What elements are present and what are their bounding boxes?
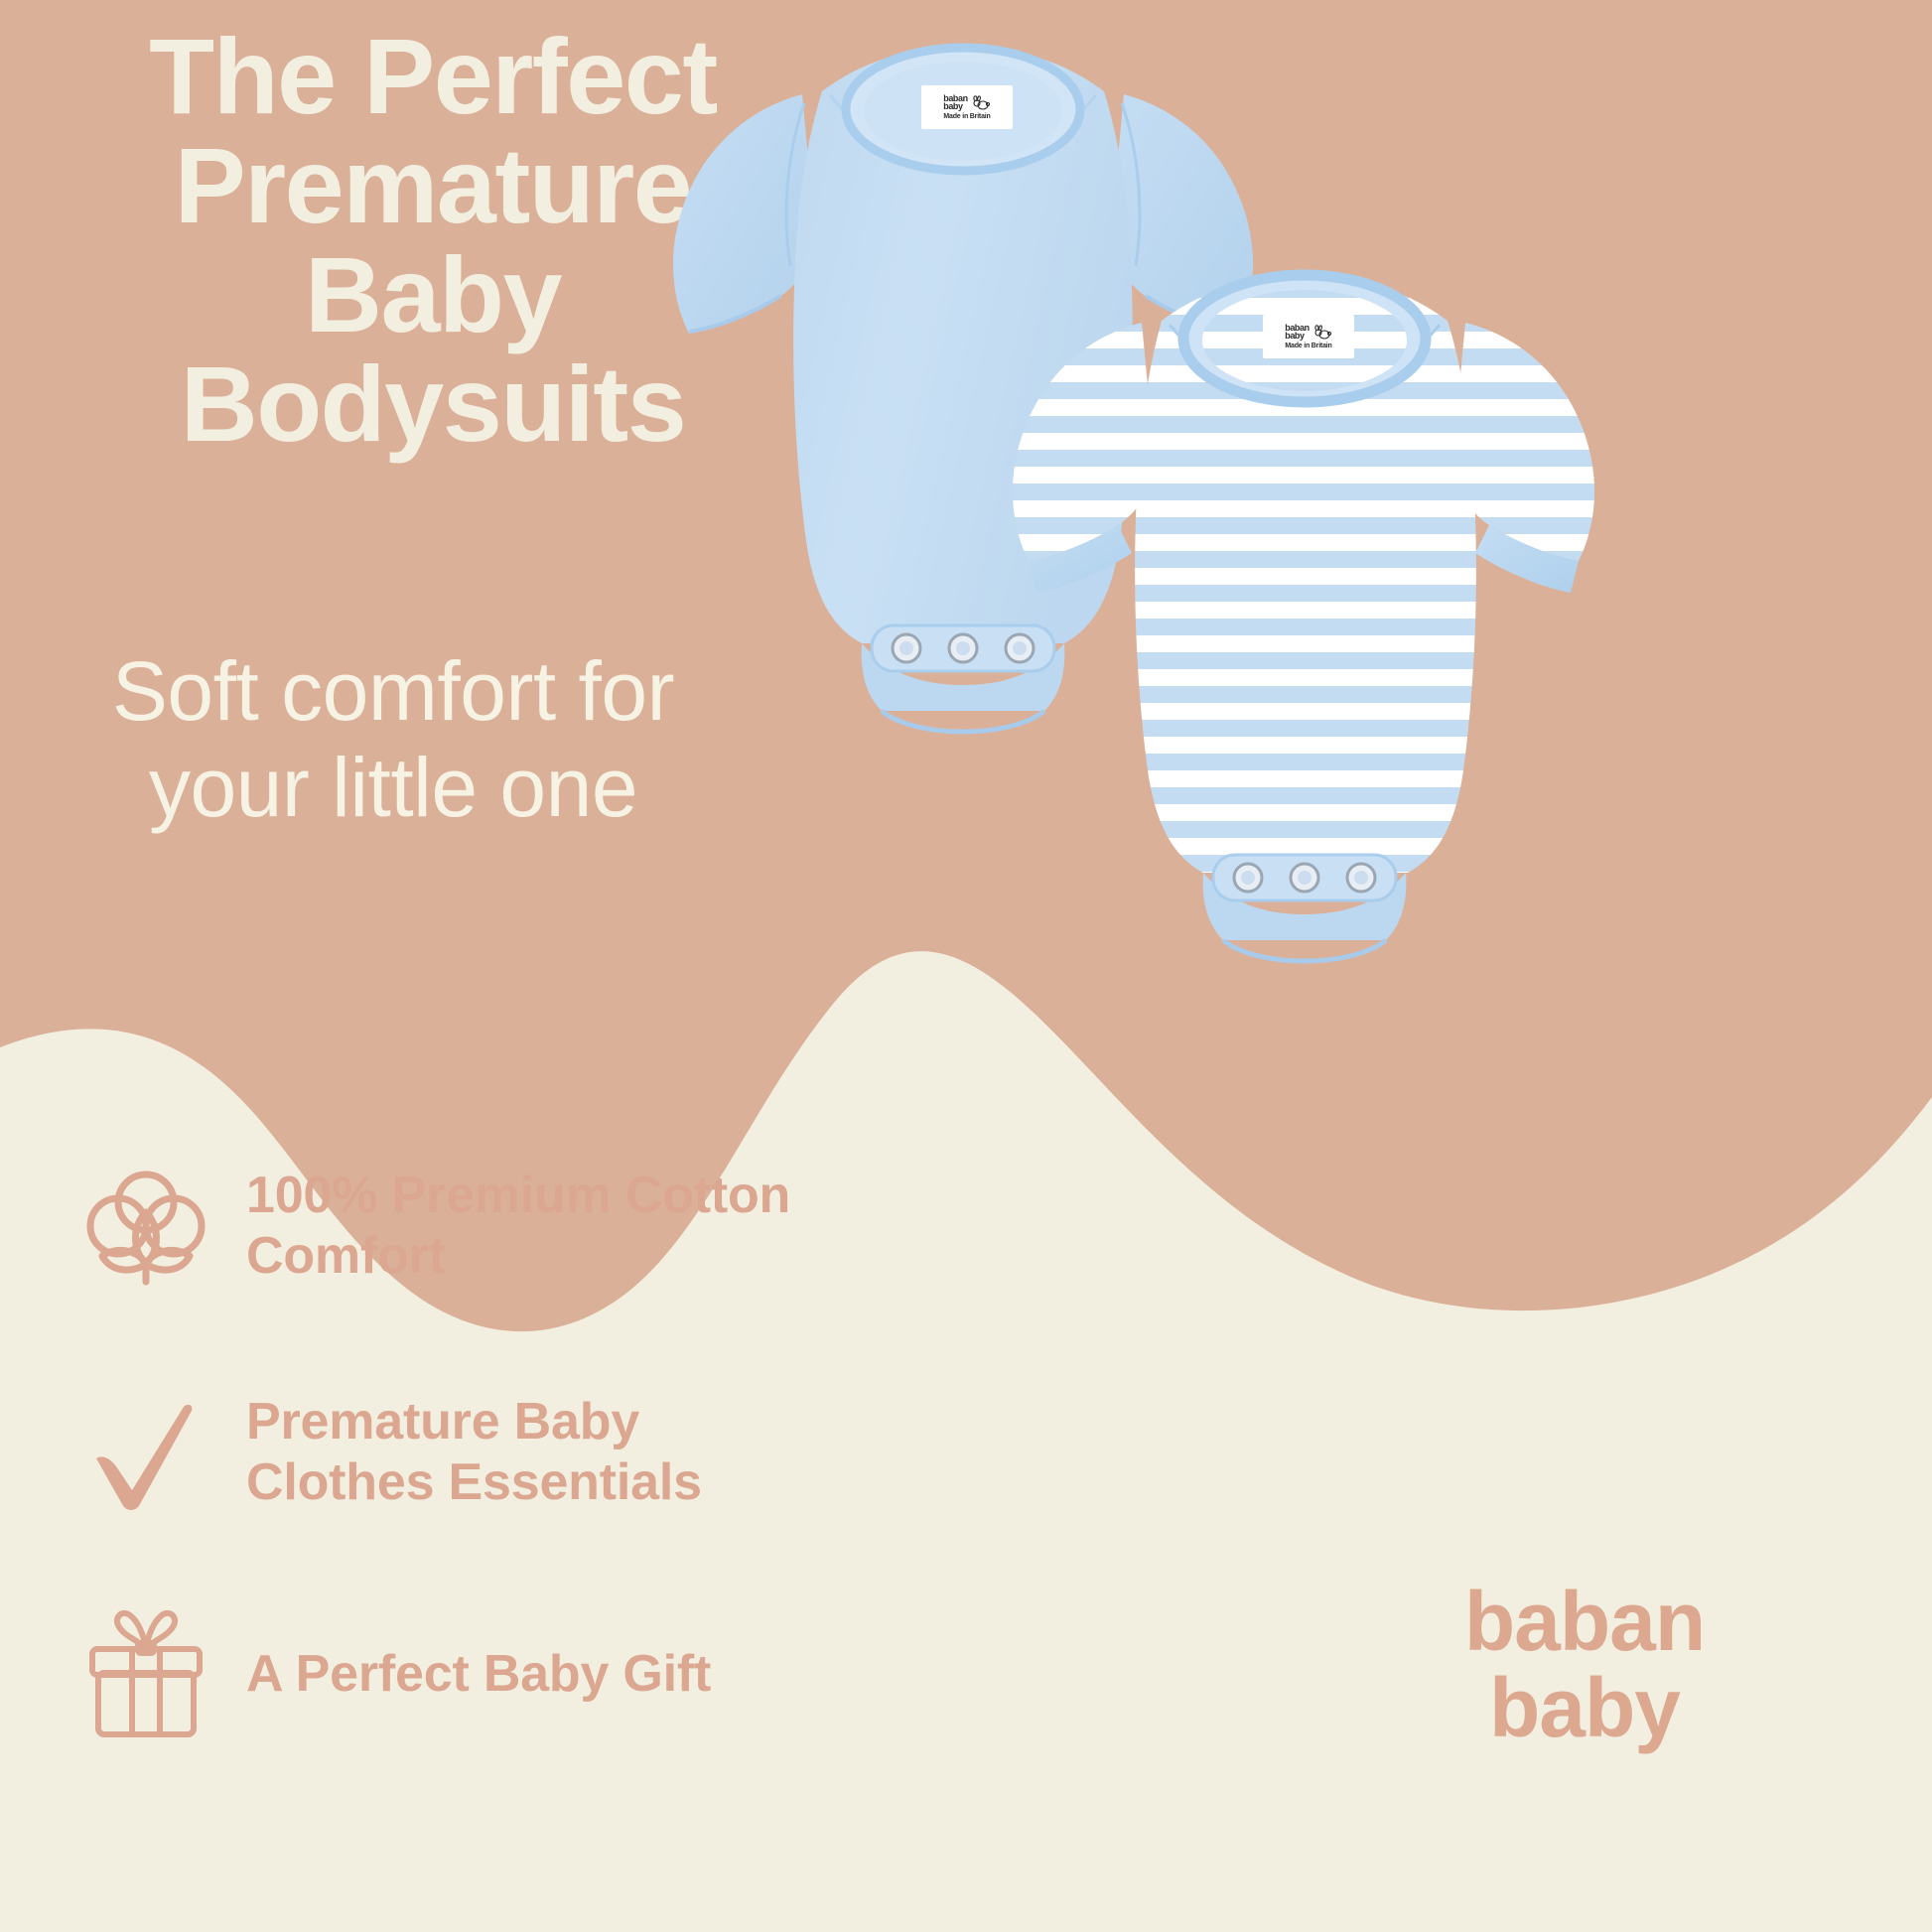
feature-label-line1: 100% Premium Cotton [246,1166,790,1226]
subheadline-line-2: your little one [46,740,741,836]
neck-label-brand-line2: baby [943,102,968,110]
subheadline-line-1: Soft comfort for [46,643,741,740]
feature-item-cotton: 100% Premium Cotton Comfort [71,1152,1064,1301]
feature-item-essentials: Premature Baby Clothes Essentials [71,1378,1064,1527]
feature-label-line2: Clothes Essentials [246,1452,702,1513]
cotton-flower-icon [71,1152,220,1301]
bunny-logo-icon [1312,323,1332,341]
checkmark-icon [71,1378,220,1527]
snap-buttons [1234,864,1375,892]
subheadline: Soft comfort for your little one [46,643,741,835]
bunny-logo-icon [971,93,991,111]
feature-label-line2: Comfort [246,1226,790,1287]
feature-label-line1: Premature Baby [246,1392,702,1452]
feature-label-line1: A Perfect Baby Gift [246,1644,711,1705]
neck-label-origin: Made in Britain [943,113,990,121]
striped-blue-bodysuit: baban baby Made in Britain [983,213,1618,968]
feature-list: 100% Premium Cotton Comfort Premature Ba… [71,1152,1064,1835]
neck-label-brand-line2: baby [1285,332,1310,340]
brand-line-2: baby [1376,1665,1793,1751]
brand-line-1: baban [1376,1579,1793,1665]
feature-label-essentials: Premature Baby Clothes Essentials [220,1392,702,1514]
marketing-canvas: The Perfect Premature Baby Bodysuits Sof… [0,0,1932,1932]
feature-label-cotton: 100% Premium Cotton Comfort [220,1166,790,1288]
neck-label: baban baby Made in Britain [1263,315,1354,358]
neck-label-origin: Made in Britain [1285,343,1331,350]
feature-label-gift: A Perfect Baby Gift [220,1644,711,1705]
brand-logo: baban baby [1376,1579,1793,1750]
gift-box-icon [71,1600,220,1749]
feature-item-gift: A Perfect Baby Gift [71,1600,1064,1749]
neck-label: baban baby Made in Britain [921,85,1013,129]
